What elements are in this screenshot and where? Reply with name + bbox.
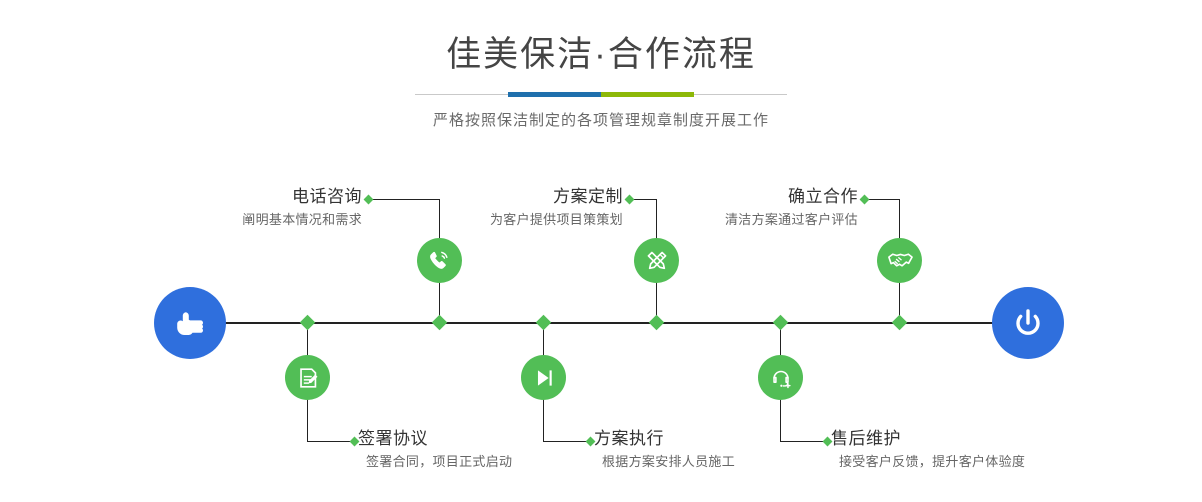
play-execute-icon xyxy=(531,365,557,391)
step-label-1: 电话咨询 阐明基本情况和需求 xyxy=(152,186,362,230)
label-dot-3 xyxy=(625,195,635,205)
step-title-4: 方案执行 xyxy=(594,428,735,450)
timeline-end-node xyxy=(992,287,1064,359)
step-desc-6: 接受客户反馈，提升客户体验度 xyxy=(839,452,1025,472)
customer-support-icon xyxy=(768,365,794,391)
step-title-6: 售后维护 xyxy=(831,428,1025,450)
handshake-icon xyxy=(886,247,913,274)
step-desc-3: 为客户提供项目策策划 xyxy=(415,210,623,230)
timeline-start-node xyxy=(154,287,226,359)
timeline-node-dot-6 xyxy=(773,315,789,331)
step-icon-circle-4 xyxy=(521,355,566,400)
step-title-3: 方案定制 xyxy=(415,186,623,208)
step-label-4: 方案执行 根据方案安排人员施工 xyxy=(594,428,735,472)
process-timeline: 电话咨询 阐明基本情况和需求 签署协议 签署合同，项目正式启动 xyxy=(0,0,1202,502)
step-label-2: 签署协议 签署合同，项目正式启动 xyxy=(358,428,512,472)
label-dot-5 xyxy=(860,195,870,205)
step-icon-circle-6 xyxy=(758,355,803,400)
label-dot-1 xyxy=(364,195,374,205)
phone-call-icon xyxy=(426,247,453,274)
step-icon-circle-2 xyxy=(285,355,330,400)
step-desc-2: 签署合同，项目正式启动 xyxy=(366,452,512,472)
document-sign-icon xyxy=(295,365,321,391)
step-icon-circle-1 xyxy=(417,238,462,283)
step-icon-circle-3 xyxy=(634,238,679,283)
step-icon-circle-5 xyxy=(877,238,922,283)
step-desc-5: 清洁方案通过客户评估 xyxy=(652,210,858,230)
connector-horizontal-4 xyxy=(543,441,590,442)
step-desc-1: 阐明基本情况和需求 xyxy=(152,210,362,230)
step-title-5: 确立合作 xyxy=(652,186,858,208)
connector-horizontal-6 xyxy=(780,441,827,442)
connector-horizontal-1 xyxy=(368,199,440,200)
step-label-5: 确立合作 清洁方案通过客户评估 xyxy=(652,186,858,230)
step-label-3: 方案定制 为客户提供项目策策划 xyxy=(415,186,623,230)
timeline-node-dot-4 xyxy=(536,315,552,331)
step-label-6: 售后维护 接受客户反馈，提升客户体验度 xyxy=(831,428,1025,472)
step-desc-4: 根据方案安排人员施工 xyxy=(602,452,735,472)
timeline-node-dot-2 xyxy=(300,315,316,331)
pointing-hand-icon xyxy=(170,303,210,343)
timeline-node-dot-1 xyxy=(432,315,448,331)
cooperation-flow-infographic: 佳美保洁·合作流程 严格按照保洁制定的各项管理规章制度开展工作 xyxy=(0,0,1202,502)
timeline-node-dot-3 xyxy=(649,315,665,331)
step-title-2: 签署协议 xyxy=(358,428,512,450)
pencil-ruler-icon xyxy=(644,248,670,274)
step-title-1: 电话咨询 xyxy=(152,186,362,208)
power-icon xyxy=(1008,303,1048,343)
connector-horizontal-2 xyxy=(307,441,354,442)
timeline-node-dot-5 xyxy=(892,315,908,331)
